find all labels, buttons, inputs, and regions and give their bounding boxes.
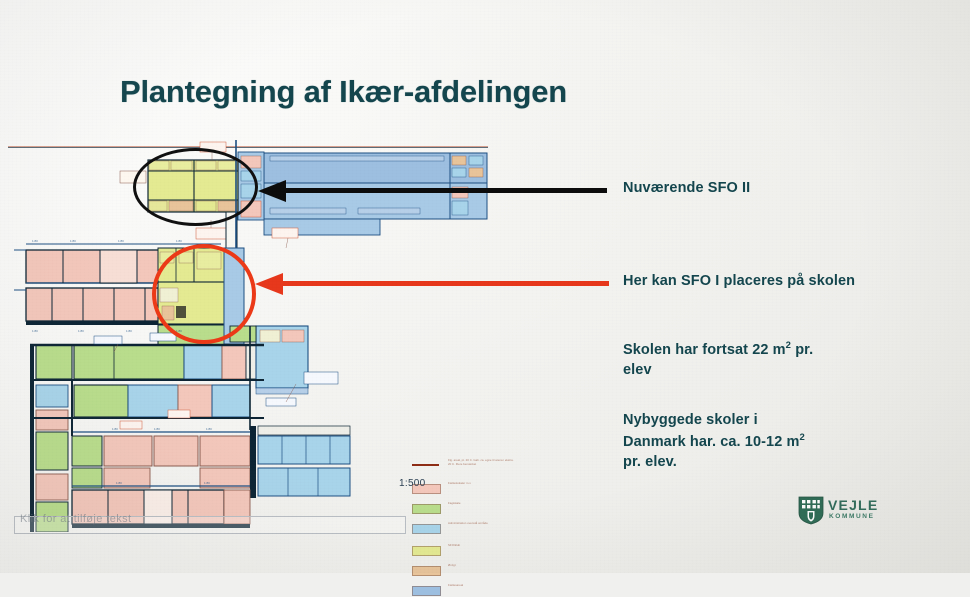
legend-label: Fællesareal xyxy=(448,584,516,588)
legend-label: SFO/klub xyxy=(448,544,516,548)
svg-text:1:80: 1:80 xyxy=(126,329,132,333)
scale-label: 1:500 xyxy=(399,478,426,489)
legend-row: Fælleslokaler m.v. xyxy=(412,481,517,495)
legend-swatch xyxy=(412,546,441,556)
legend-swatch-line xyxy=(412,464,439,466)
annotation-her-kan-sfo1: Her kan SFO I placeres på skolen xyxy=(623,271,868,292)
arrow-head-sfo1 xyxy=(255,273,283,295)
svg-text:1:80: 1:80 xyxy=(32,329,38,333)
legend-label: Øvrigt xyxy=(448,564,516,568)
logo-wordmark: VEJLE xyxy=(828,497,878,513)
highlight-ellipse-sfo1 xyxy=(152,244,256,344)
legend-swatch xyxy=(412,566,441,576)
legend-swatch xyxy=(412,586,441,596)
arrow-head-sfo2 xyxy=(258,180,286,202)
legend-label: Flg. areal, pt. 20 C. Gab. ca. egne til … xyxy=(448,459,516,466)
fact-nybyggede-sup: 2 xyxy=(800,432,805,443)
shield-icon xyxy=(798,496,824,525)
logo-subtitle: KOMMUNE xyxy=(829,513,875,520)
legend-row: SFO/klub xyxy=(412,543,517,557)
legend-swatch xyxy=(412,504,441,514)
legend-row: Administration ovenstå område xyxy=(412,521,517,535)
legend-row: Fællesareal xyxy=(412,583,517,597)
fact-nybyggede-line3: pr. elev. xyxy=(623,454,677,470)
fact-skolen-m2-line2: elev xyxy=(623,362,652,378)
legend-label: Fælleslokaler m.v. xyxy=(448,482,516,486)
fact-skolen-m2-line1: Skolen har fortsat 22 m xyxy=(623,342,786,358)
legend-swatch xyxy=(412,524,441,534)
svg-text:1:80: 1:80 xyxy=(206,427,212,431)
fact-skolen-m2: Skolen har fortsat 22 m2 pr.elev xyxy=(623,339,873,381)
plan-legend: Flg. areal, pt. 20 C. Gab. ca. egne til … xyxy=(412,458,517,586)
legend-row: Faglokale xyxy=(412,501,517,515)
svg-text:1:80: 1:80 xyxy=(176,239,182,243)
legend-row: Flg. areal, pt. 20 C. Gab. ca. egne til … xyxy=(412,458,517,472)
svg-text:1:80: 1:80 xyxy=(112,427,118,431)
page-title: Plantegning af Ikær-afdelingen xyxy=(120,74,567,110)
arrow-shaft-sfo1 xyxy=(282,281,609,286)
annotation-nuvaerende-sfo2: Nuværende SFO II xyxy=(623,178,750,199)
svg-text:1:80: 1:80 xyxy=(32,239,38,243)
fact-nybyggede-line2: Danmark har. ca. 10-12 m xyxy=(623,433,800,449)
slide-canvas: Plantegning af Ikær-afdelingen xyxy=(0,0,970,573)
content-placeholder-text[interactable]: Klik for at tilføje tekst xyxy=(20,513,131,525)
legend-row: Øvrigt xyxy=(412,563,517,577)
fact-skolen-m2-tail: pr. xyxy=(791,342,813,358)
svg-text:1:80: 1:80 xyxy=(118,239,124,243)
svg-text:1:80: 1:80 xyxy=(204,481,210,485)
vejle-kommune-logo: VEJLE KOMMUNE xyxy=(798,496,894,528)
svg-text:1:80: 1:80 xyxy=(116,481,122,485)
legend-label: Faglokale xyxy=(448,502,516,506)
fact-nybyggede-m2: Nybyggede skoler iDanmark har. ca. 10-12… xyxy=(623,410,873,473)
fact-nybyggede-line1: Nybyggede skoler i xyxy=(623,412,758,428)
svg-text:1:80: 1:80 xyxy=(78,329,84,333)
svg-text:1:80: 1:80 xyxy=(154,427,160,431)
arrow-shaft-sfo2 xyxy=(285,188,607,193)
legend-label: Administration ovenstå område xyxy=(448,522,516,526)
highlight-ellipse-sfo2 xyxy=(133,148,258,226)
svg-text:1:80: 1:80 xyxy=(70,239,76,243)
